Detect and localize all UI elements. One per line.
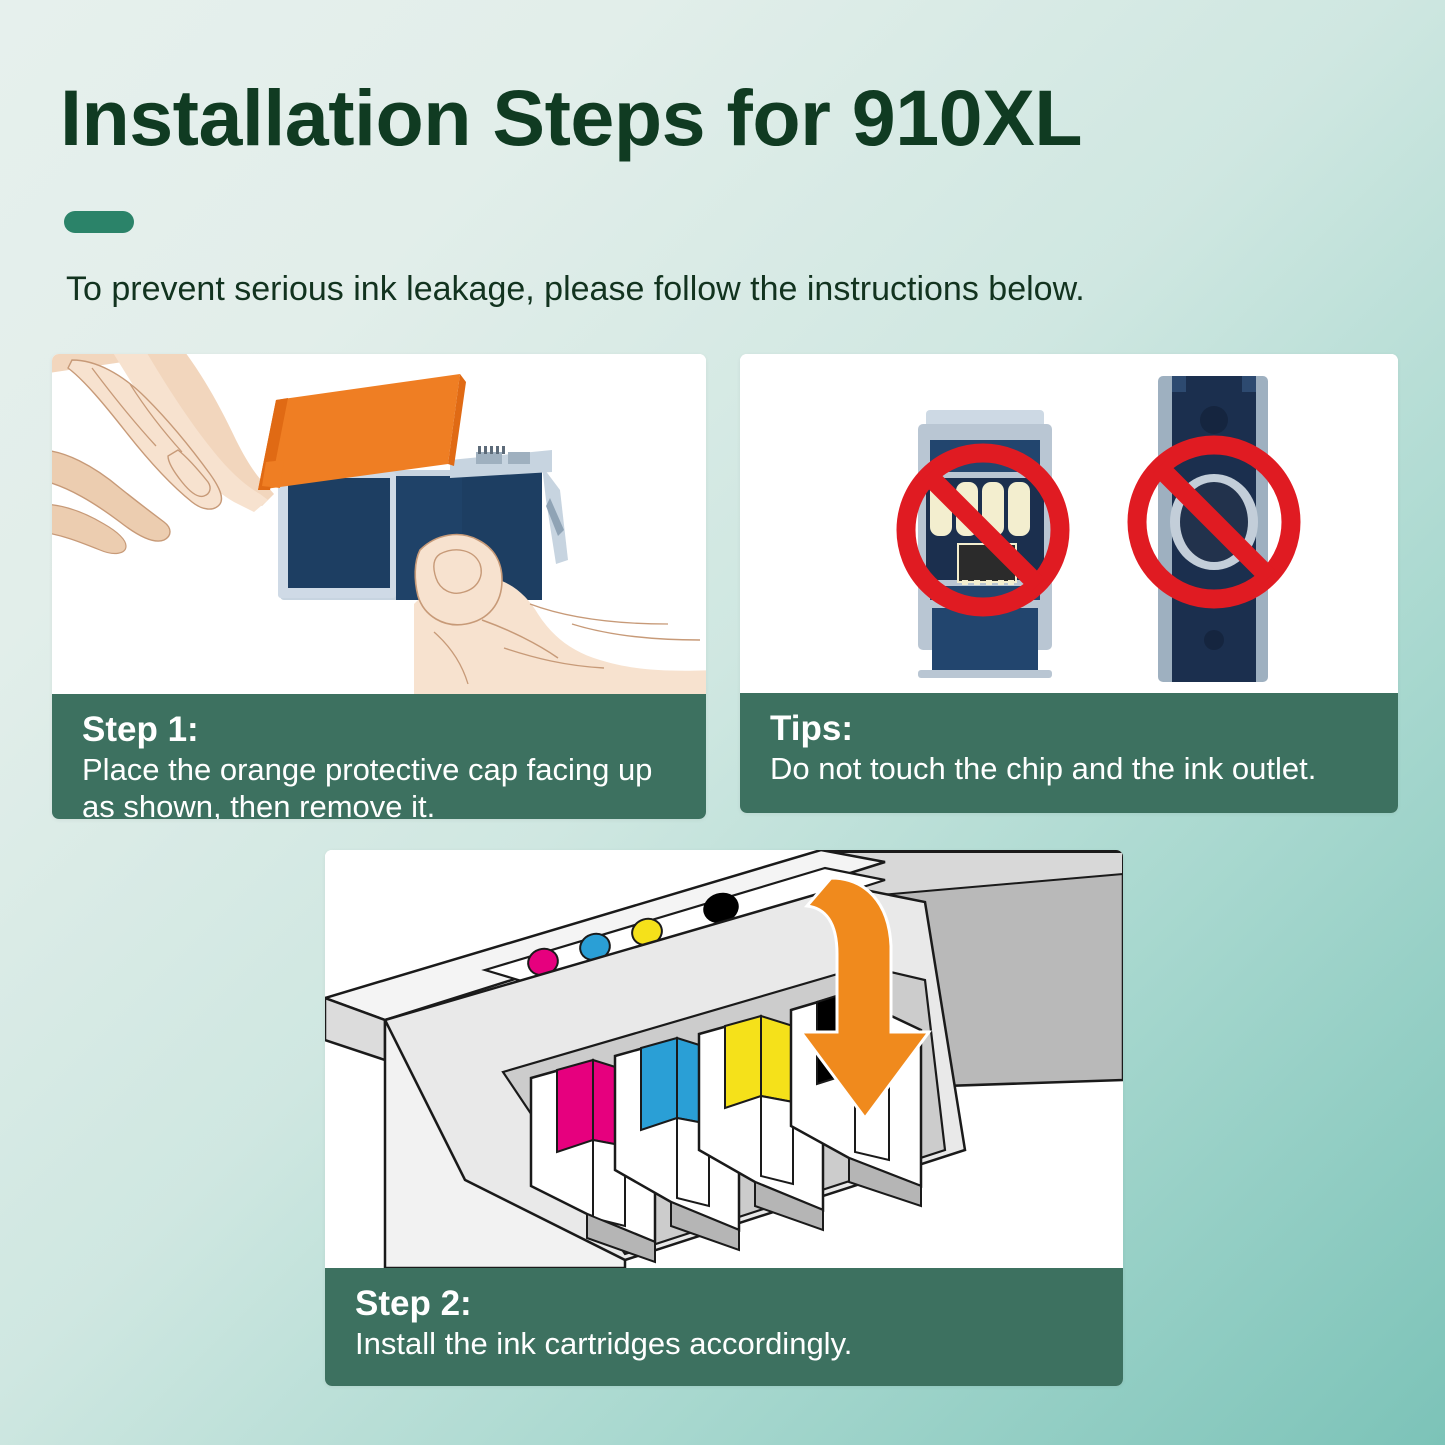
page-title: Installation Steps for 910XL	[60, 78, 1082, 157]
step1-caption-body: Place the orange protective cap facing u…	[82, 752, 680, 819]
do-not-touch-illustration	[740, 354, 1398, 693]
card-step-2: Step 2: Install the ink cartridges accor…	[325, 850, 1123, 1386]
card-step-1: Step 1: Place the orange protective cap …	[52, 354, 706, 819]
card-tips: Tips: Do not touch the chip and the ink …	[740, 354, 1398, 813]
tips-caption: Tips: Do not touch the chip and the ink …	[740, 693, 1398, 813]
tips-caption-title: Tips:	[770, 709, 1372, 749]
hands-removing-cap-illustration	[52, 354, 706, 694]
step1-caption-title: Step 1:	[82, 710, 680, 750]
page-subtitle: To prevent serious ink leakage, please f…	[66, 268, 1085, 311]
step2-caption: Step 2: Install the ink cartridges accor…	[325, 1268, 1123, 1386]
step2-caption-title: Step 2:	[355, 1284, 1097, 1324]
step2-illustration	[325, 850, 1123, 1268]
accent-pill-divider	[64, 211, 134, 233]
tips-caption-body: Do not touch the chip and the ink outlet…	[770, 751, 1372, 788]
printer-carriage-illustration	[325, 850, 1123, 1268]
step1-illustration	[52, 354, 706, 694]
tips-illustration	[740, 354, 1398, 693]
step1-caption: Step 1: Place the orange protective cap …	[52, 694, 706, 819]
step2-caption-body: Install the ink cartridges accordingly.	[355, 1326, 1097, 1363]
infographic-page: Installation Steps for 910XL To prevent …	[0, 0, 1445, 1445]
